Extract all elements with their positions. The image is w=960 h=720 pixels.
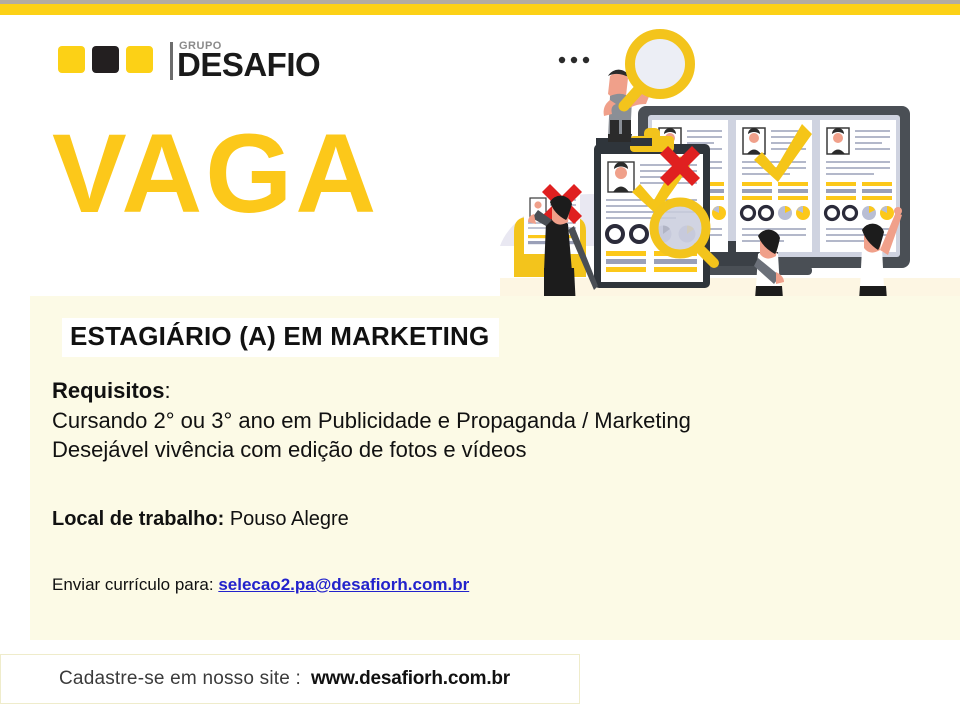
- logo-square-black: [92, 46, 119, 73]
- work-location-label: Local de trabalho:: [52, 508, 224, 530]
- job-title: ESTAGIÁRIO (A) EM MARKETING: [70, 321, 489, 352]
- logo-divider: [170, 42, 173, 80]
- apply-instructions: Enviar currículo para: selecao2.pa@desaf…: [52, 575, 469, 595]
- requirement-line-2: Desejável vivência com edição de fotos e…: [52, 435, 932, 465]
- hero-headline: VAGA: [52, 118, 379, 230]
- three-dots-icon: [559, 57, 589, 63]
- work-location-value: Pouso Alegre: [230, 508, 349, 530]
- apply-label: Enviar currículo para:: [52, 575, 214, 594]
- requirement-line-1: Cursando 2° ou 3° ano em Publicidade e P…: [52, 406, 932, 436]
- footer-content: Cadastre-se em nosso site :www.desafiorh…: [59, 668, 510, 690]
- logo-square-yellow-1: [58, 46, 85, 73]
- brand-logo: GRUPO DESAFIO: [58, 38, 358, 86]
- work-location: Local de trabalho: Pouso Alegre: [52, 508, 349, 531]
- top-accent-bar: [0, 4, 960, 15]
- job-posting-poster: GRUPO DESAFIO VAGA: [0, 0, 960, 720]
- requirements-heading: Requisitos:: [52, 376, 932, 406]
- footer-website[interactable]: www.desafiorh.com.br: [311, 668, 510, 689]
- logo-squares-icon: [58, 46, 153, 73]
- job-details-panel: ESTAGIÁRIO (A) EM MARKETING Requisitos: …: [30, 296, 960, 640]
- logo-square-yellow-2: [126, 46, 153, 73]
- requirements-colon: :: [164, 378, 170, 403]
- footer-cta-text: Cadastre-se em nosso site :: [59, 668, 301, 689]
- recruitment-illustration: [500, 16, 960, 316]
- footer-site-box: Cadastre-se em nosso site :www.desafiorh…: [0, 654, 580, 704]
- requirements-label: Requisitos: [52, 378, 164, 403]
- logo-desafio-text: DESAFIO: [177, 48, 320, 81]
- requirements-block: Requisitos: Cursando 2° ou 3° ano em Pub…: [52, 376, 932, 465]
- resume-card-3: [820, 120, 896, 252]
- apply-email-link[interactable]: selecao2.pa@desafiorh.com.br: [218, 575, 469, 594]
- job-title-band: ESTAGIÁRIO (A) EM MARKETING: [62, 318, 499, 357]
